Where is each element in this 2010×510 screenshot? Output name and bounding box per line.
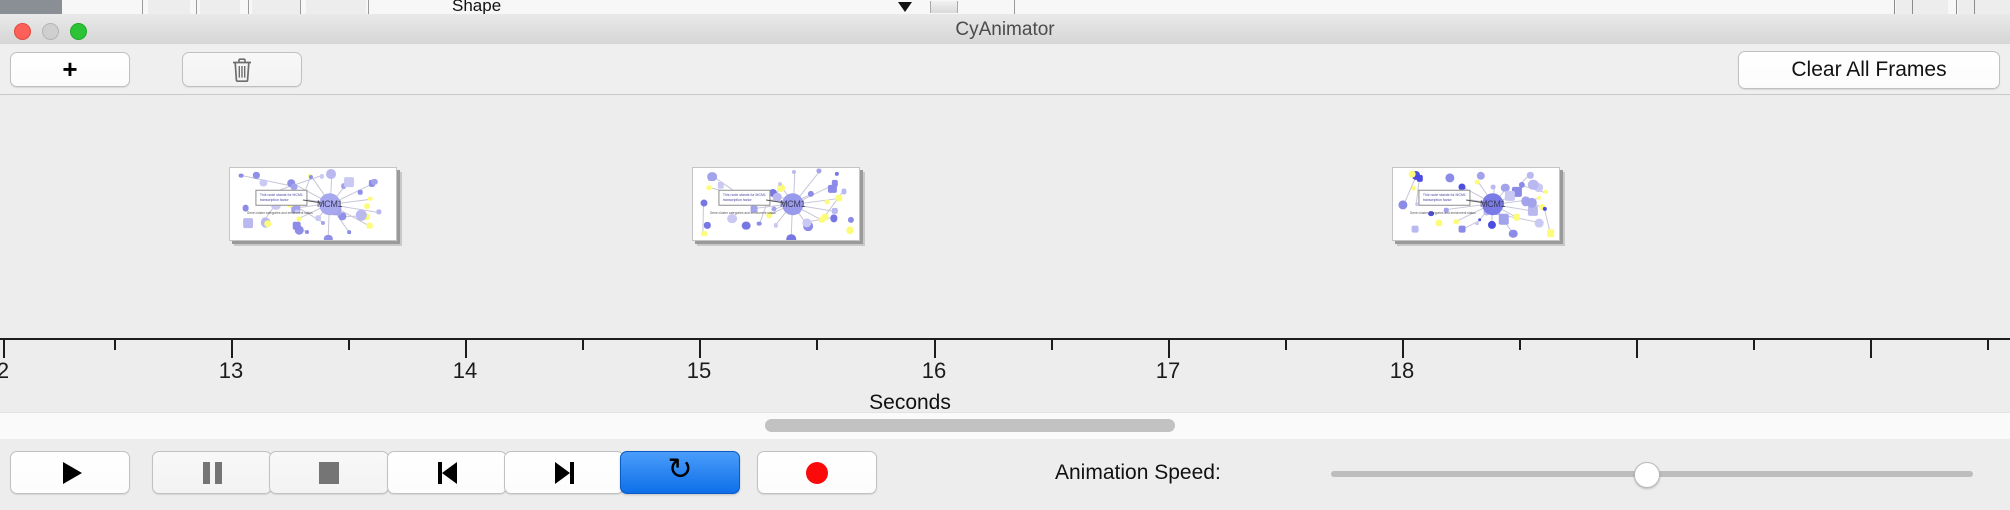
network-node	[727, 214, 737, 224]
add-frame-button[interactable]: +	[10, 52, 130, 87]
background-shape-label: Shape	[452, 0, 501, 15]
animation-speed-slider-thumb[interactable]	[1634, 462, 1660, 488]
play-button[interactable]	[10, 451, 130, 494]
network-node	[324, 235, 332, 241]
titlebar: CyAnimator	[0, 14, 2010, 45]
network-hub-node: MCM1	[319, 193, 341, 215]
background-chunk	[148, 0, 190, 14]
play-icon	[63, 462, 82, 484]
network-node	[1505, 191, 1515, 201]
trash-icon	[231, 57, 253, 83]
network-node	[1543, 190, 1548, 195]
network-node	[808, 191, 814, 197]
network-node	[1543, 206, 1547, 210]
background-dark-chunk	[0, 0, 62, 14]
network-node	[239, 173, 244, 178]
timeline-panel[interactable]: MCM1This node stands for MCM1 transcript…	[0, 95, 2010, 412]
network-node	[1453, 219, 1459, 225]
axis-tick-major	[699, 340, 701, 358]
network-node	[1491, 185, 1496, 190]
loop-icon: ↻	[667, 455, 692, 485]
network-node	[704, 222, 710, 228]
network-node	[846, 227, 853, 234]
cyanimator-window: Shape CyAnimator + Clear All Frames MCM1…	[0, 0, 2010, 510]
network-node	[1415, 202, 1419, 206]
axis-tick-major	[1168, 340, 1170, 358]
network-node	[1436, 219, 1443, 226]
frame-network-preview: MCM1This node stands for MCM1 transcript…	[230, 168, 396, 240]
network-node	[371, 179, 377, 185]
network-node	[1411, 186, 1416, 191]
network-node	[792, 170, 796, 174]
axis-tick-minor	[1519, 340, 1521, 350]
network-node	[292, 221, 301, 230]
axis-tick-minor	[1285, 340, 1287, 350]
axis-tick-major	[934, 340, 936, 358]
axis-tick-major	[1402, 340, 1404, 358]
network-node	[264, 220, 271, 227]
network-edge	[241, 175, 294, 187]
background-chunk	[306, 0, 366, 14]
network-node	[701, 199, 708, 206]
frame-network-preview: MCM1This node stands for MCM1 transcript…	[693, 168, 859, 240]
stop-button	[269, 451, 389, 494]
animation-speed-label: Animation Speed:	[1055, 461, 1221, 485]
network-node	[1547, 229, 1555, 237]
axis-tick-minor	[816, 340, 818, 350]
network-node	[774, 223, 778, 227]
axis-tick-minor	[582, 340, 584, 350]
network-node	[742, 221, 751, 230]
network-node	[305, 230, 309, 234]
network-node	[841, 189, 846, 194]
network-hub-node: MCM1	[1482, 193, 1504, 215]
network-node	[1458, 225, 1465, 232]
network-tooltip: This node stands for MCM1 transcription …	[719, 189, 770, 206]
axis-tick-major	[1636, 340, 1638, 358]
background-window-strip: Shape	[0, 0, 2010, 15]
network-node	[718, 182, 724, 188]
network-node	[377, 210, 382, 215]
timeline-frame[interactable]: MCM1This node stands for MCM1 transcript…	[1392, 167, 1560, 241]
network-node	[366, 222, 373, 229]
axis-tick-major	[3, 340, 5, 358]
axis-tick-label: 17	[1156, 358, 1180, 384]
network-node	[832, 208, 838, 214]
axis-tick-major	[465, 340, 467, 358]
network-node	[1445, 173, 1454, 182]
axis-tick-minor	[348, 340, 350, 350]
axis-tick-label: 14	[453, 358, 477, 384]
clear-all-frames-label: Clear All Frames	[1791, 58, 1946, 82]
network-node	[253, 172, 259, 178]
network-node	[244, 218, 254, 228]
network-node	[1475, 179, 1480, 184]
skip-end-icon	[555, 462, 574, 484]
network-node	[1488, 220, 1496, 228]
network-hub-node: MCM1	[782, 193, 804, 215]
network-node	[344, 177, 354, 187]
plus-icon: +	[62, 56, 77, 82]
network-node	[364, 203, 370, 209]
axis-tick-label: 16	[922, 358, 946, 384]
network-node	[848, 217, 854, 223]
timeline-scrollbar-thumb[interactable]	[765, 419, 1175, 432]
axis-tick-major	[231, 340, 233, 358]
network-node	[1478, 218, 1482, 222]
background-chunk	[252, 0, 300, 14]
stop-icon	[319, 462, 339, 484]
axis-tick-label: 15	[687, 358, 711, 384]
playback-toolbar: ↻ Animation Speed:	[0, 439, 2010, 510]
axis-tick-minor	[1987, 340, 1989, 350]
network-node	[1535, 219, 1544, 228]
axis-tick-label: 13	[219, 358, 243, 384]
network-node	[1509, 229, 1518, 238]
network-node	[1475, 222, 1479, 226]
network-tooltip: This node stands for MCM1 transcription …	[256, 189, 307, 206]
network-node	[830, 215, 837, 222]
network-node	[708, 174, 714, 180]
record-button[interactable]	[757, 451, 877, 494]
network-node	[1477, 172, 1485, 180]
network-node	[260, 179, 267, 186]
network-caption: Gene cluster categories and enrichment s…	[1410, 211, 1476, 215]
timeline-frame[interactable]: MCM1This node stands for MCM1 transcript…	[229, 167, 397, 241]
network-node	[326, 169, 336, 179]
network-node	[1514, 214, 1521, 221]
frame-network-preview: MCM1This node stands for MCM1 transcript…	[1393, 168, 1559, 240]
background-chunk	[1896, 0, 1948, 14]
network-node	[757, 221, 762, 226]
network-node	[816, 168, 821, 173]
network-node	[315, 216, 321, 222]
network-node	[358, 190, 363, 195]
network-node	[778, 182, 782, 186]
axis-tick-label: 2	[0, 358, 9, 384]
clear-all-frames-button[interactable]: Clear All Frames	[1738, 51, 2000, 89]
timeline-scrollbar[interactable]	[0, 412, 2010, 440]
network-node	[786, 234, 796, 241]
network-caption: Gene cluster categories and enrichment s…	[247, 211, 313, 215]
network-node	[828, 185, 836, 193]
timeline-axis-line	[0, 338, 2010, 340]
window-title: CyAnimator	[0, 19, 2010, 41]
loop-button[interactable]: ↻	[620, 451, 740, 494]
network-node	[1399, 201, 1408, 210]
delete-frame-button[interactable]	[182, 52, 302, 87]
background-arrow-icon	[898, 2, 912, 12]
network-node	[825, 199, 830, 204]
network-node	[835, 172, 839, 176]
network-node	[368, 196, 373, 201]
background-chunk	[200, 0, 240, 14]
toolbar: + Clear All Frames	[0, 44, 2010, 95]
axis-tick-minor	[1051, 340, 1053, 350]
skip-to-end-button[interactable]	[504, 451, 624, 494]
network-node	[1409, 171, 1416, 178]
network-edge	[703, 203, 705, 234]
network-node	[707, 185, 713, 191]
network-node	[321, 221, 325, 225]
skip-start-icon	[438, 462, 457, 484]
network-node	[1527, 172, 1533, 178]
axis-tick-minor	[1753, 340, 1755, 350]
network-tooltip: This node stands for MCM1 transcription …	[1419, 189, 1470, 206]
network-node	[320, 174, 324, 178]
pause-icon	[203, 462, 222, 484]
network-node	[1537, 196, 1541, 200]
axis-tick-minor	[114, 340, 116, 350]
network-node	[821, 214, 828, 221]
axis-tick-major	[1870, 340, 1872, 358]
pause-button	[152, 451, 272, 494]
axis-tick-label: 18	[1390, 358, 1414, 384]
network-node	[347, 230, 351, 234]
network-caption: Gene cluster categories and enrichment s…	[710, 211, 776, 215]
network-node	[836, 194, 843, 201]
record-icon	[806, 462, 828, 484]
timeline-frame[interactable]: MCM1This node stands for MCM1 transcript…	[692, 167, 860, 241]
network-node	[1499, 214, 1509, 224]
network-node	[1412, 226, 1419, 233]
skip-to-start-button[interactable]	[387, 451, 507, 494]
network-node	[701, 231, 707, 237]
background-chunk	[1958, 0, 2010, 14]
